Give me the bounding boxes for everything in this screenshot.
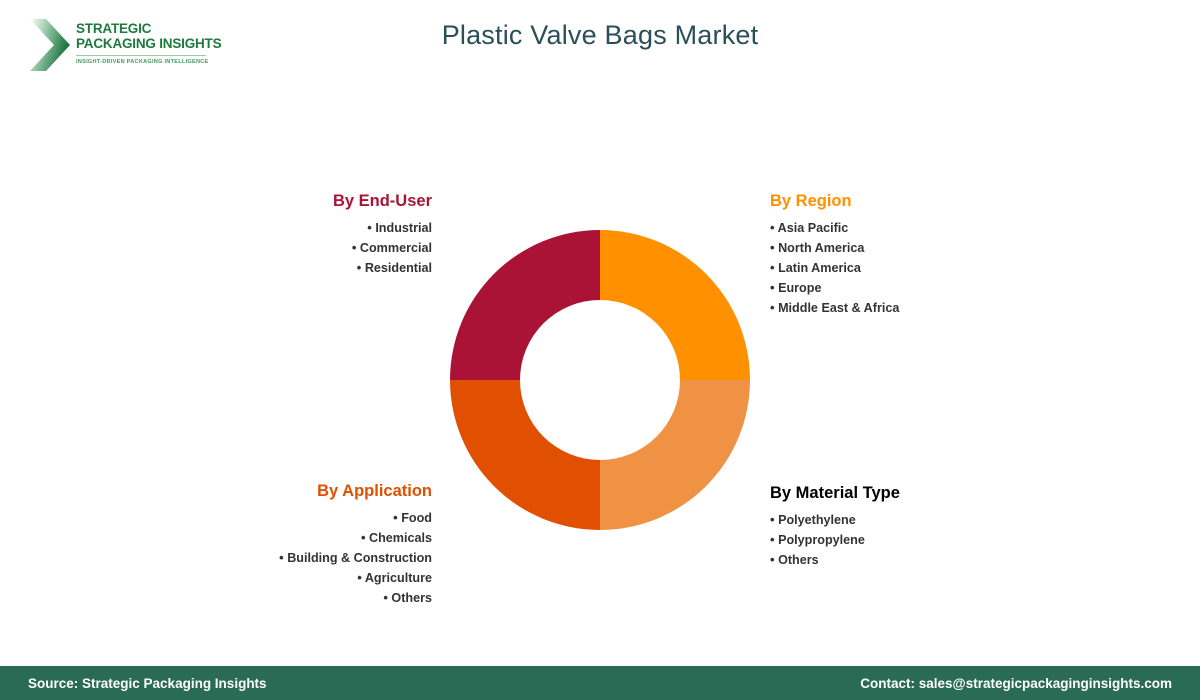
category-material-type: By Material Type • Polyethylene • Polypr… xyxy=(770,484,1030,570)
list-item-label: Europe xyxy=(778,281,821,295)
list-item-label: Polyethylene xyxy=(778,513,856,527)
category-title-material-type: By Material Type xyxy=(770,484,1030,503)
list-item-label: Residential xyxy=(365,261,432,275)
category-title-end-user: By End-User xyxy=(210,192,432,211)
logo-divider xyxy=(76,55,206,56)
bullet-icon: • xyxy=(393,510,398,525)
list-item-label: Middle East & Africa xyxy=(778,301,899,315)
bullet-icon: • xyxy=(770,532,775,547)
category-region: By Region • Asia Pacific • North America… xyxy=(770,192,1030,318)
bullet-icon: • xyxy=(357,260,362,275)
list-item: • Asia Pacific xyxy=(770,218,1030,238)
bullet-icon: • xyxy=(770,260,775,275)
bullet-icon: • xyxy=(361,530,366,545)
list-item: • Building & Construction xyxy=(150,548,432,568)
list-item-label: Polypropylene xyxy=(778,533,865,547)
bullet-icon: • xyxy=(383,590,388,605)
list-item-label: North America xyxy=(778,241,864,255)
list-item: • Polyethylene xyxy=(770,510,1030,530)
list-item-label: Industrial xyxy=(375,221,432,235)
footer-bar: Source: Strategic Packaging Insights Con… xyxy=(0,666,1200,700)
list-item: • North America xyxy=(770,238,1030,258)
list-item-label: Building & Construction xyxy=(287,551,432,565)
list-item: • Others xyxy=(150,588,432,608)
list-item-label: Others xyxy=(778,553,819,567)
list-item: • Residential xyxy=(210,258,432,278)
bullet-icon: • xyxy=(770,552,775,567)
list-item-label: Others xyxy=(391,591,432,605)
footer-source: Source: Strategic Packaging Insights xyxy=(28,676,267,691)
list-item: • Commercial xyxy=(210,238,432,258)
footer-contact: Contact: sales@strategicpackaginginsight… xyxy=(860,676,1172,691)
bullet-icon: • xyxy=(770,300,775,315)
bullet-icon: • xyxy=(770,512,775,527)
list-item: • Polypropylene xyxy=(770,530,1030,550)
category-list-end-user: • Industrial • Commercial • Residential xyxy=(210,218,432,278)
category-end-user: By End-User • Industrial • Commercial • … xyxy=(210,192,432,278)
logo-tagline: INSIGHT-DRIVEN PACKAGING INTELLIGENCE xyxy=(76,59,208,65)
category-title-application: By Application xyxy=(150,482,432,501)
list-item-label: Commercial xyxy=(360,241,432,255)
bullet-icon: • xyxy=(279,550,284,565)
category-application: By Application • Food • Chemicals • Buil… xyxy=(150,482,432,608)
bullet-icon: • xyxy=(367,220,372,235)
list-item: • Chemicals xyxy=(150,528,432,548)
category-list-application: • Food • Chemicals • Building & Construc… xyxy=(150,508,432,608)
list-item: • Agriculture xyxy=(150,568,432,588)
list-item: • Middle East & Africa xyxy=(770,298,1030,318)
donut-chart xyxy=(450,230,750,530)
bullet-icon: • xyxy=(357,570,362,585)
list-item-label: Asia Pacific xyxy=(778,221,849,235)
page-title: Plastic Valve Bags Market xyxy=(0,20,1200,51)
list-item-label: Chemicals xyxy=(369,531,432,545)
category-list-material-type: • Polyethylene • Polypropylene • Others xyxy=(770,510,1030,570)
list-item: • Industrial xyxy=(210,218,432,238)
list-item: • Others xyxy=(770,550,1030,570)
list-item-label: Latin America xyxy=(778,261,861,275)
list-item: • Europe xyxy=(770,278,1030,298)
bullet-icon: • xyxy=(770,280,775,295)
donut-center-hole xyxy=(520,300,680,460)
list-item: • Latin America xyxy=(770,258,1030,278)
bullet-icon: • xyxy=(770,220,775,235)
list-item-label: Agriculture xyxy=(365,571,432,585)
bullet-icon: • xyxy=(352,240,357,255)
bullet-icon: • xyxy=(770,240,775,255)
category-title-region: By Region xyxy=(770,192,1030,211)
category-list-region: • Asia Pacific • North America • Latin A… xyxy=(770,218,1030,318)
list-item: • Food xyxy=(150,508,432,528)
list-item-label: Food xyxy=(401,511,432,525)
